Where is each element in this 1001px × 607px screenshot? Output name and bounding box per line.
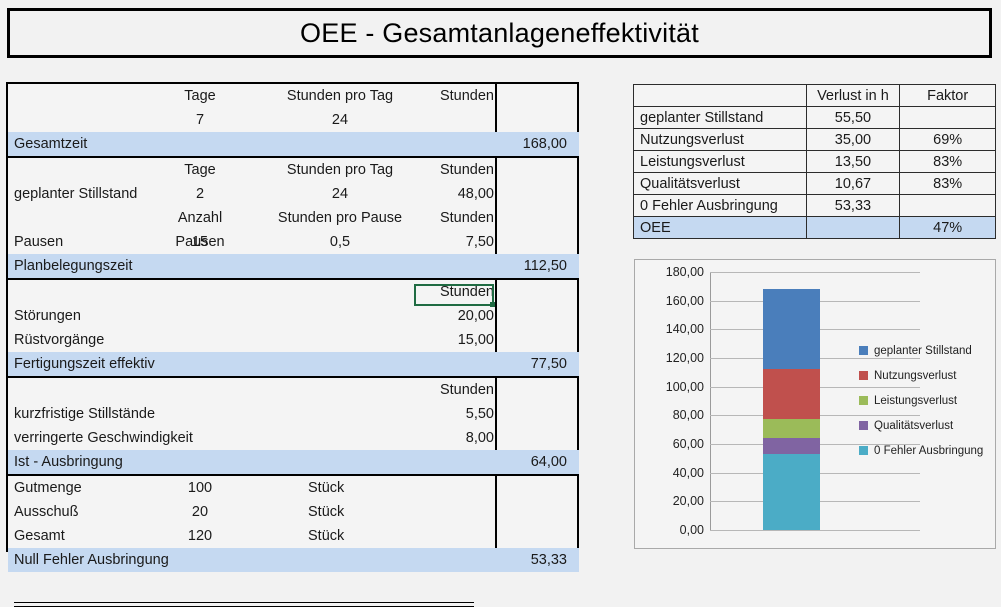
chart-y-tick-label: 40,00 [673,466,704,480]
legend-label: Leistungsverlust [874,395,957,407]
legend-swatch-icon [859,421,868,430]
row-unit: Stück [308,500,398,524]
row-label: verringerte Geschwindigkeit [14,426,193,450]
loss-table-header-row: Verlust in h Faktor [634,85,996,107]
chart-legend-item[interactable]: geplanter Stillstand [859,338,983,363]
table-row: Störungen20,00 [8,304,577,328]
chart-legend-item[interactable]: 0 Fehler Ausbringung [859,438,983,463]
row-label: Gesamt [14,524,65,548]
chart-legend-item[interactable]: Nutzungsverlust [859,363,983,388]
table-row: Leistungsverlust13,5083% [634,151,996,173]
table-row: Pausen150,57,50 [8,230,577,254]
chart-bar-segment[interactable] [763,454,820,530]
chart-gridline: 0,00 [710,530,920,531]
loss-table-head: Verlust in h Faktor [634,85,996,107]
gesamt-total-underline [14,602,474,607]
calc-block-fertigungszeit: StundenStörungen20,00Rüstvorgänge15,00Fe… [8,280,577,378]
result-label: Null Fehler Ausbringung [14,548,169,572]
legend-label: Qualitätsverlust [874,420,953,432]
calculation-blocks: TageStunden pro TagStunden724Gesamtzeit1… [8,84,577,572]
oee-stacked-bar-chart: 180,00160,00140,00120,00100,0080,0060,00… [634,259,996,549]
result-label: Ist - Ausbringung [14,450,123,474]
chart-plot-area: 180,00160,00140,00120,00100,0080,0060,00… [710,272,845,530]
row-col-c: 8,00 [416,426,494,450]
chart-y-tick-label: 20,00 [673,494,704,508]
row-col-a: 100 [158,476,242,500]
table-row: TageStunden pro TagStunden [8,158,577,182]
chart-y-tick-label: 180,00 [666,265,704,279]
table-row: TageStunden pro TagStunden [8,84,577,108]
chart-bar-segment[interactable] [763,369,820,419]
loss-row-factor: 69% [900,129,996,151]
result-row: Gesamtzeit168,00 [8,132,577,156]
loss-header-faktor: Faktor [900,85,996,107]
chart-gridline: 180,00 [710,272,920,273]
legend-swatch-icon [859,446,868,455]
chart-bar-segment[interactable] [763,419,820,438]
chart-legend-item[interactable]: Leistungsverlust [859,388,983,413]
result-label: Gesamtzeit [14,132,87,156]
page-title: OEE - Gesamtanlageneffektivität [300,18,699,49]
table-row: kurzfristige Stillstände5,50 [8,402,577,426]
legend-swatch-icon [859,396,868,405]
loss-row-label: Qualitätsverlust [634,173,807,195]
row-col-a: 15 [158,230,242,254]
loss-table-body: geplanter Stillstand55,50Nutzungsverlust… [634,107,996,239]
legend-label: geplanter Stillstand [874,345,972,357]
table-row: Nutzungsverlust35,0069% [634,129,996,151]
loss-summary-table: Verlust in h Faktor geplanter Stillstand… [633,84,996,239]
result-label: Planbelegungszeit [14,254,133,278]
chart-y-axis [710,272,711,530]
chart-y-tick-label: 80,00 [673,408,704,422]
table-row: geplanter Stillstand22448,00 [8,182,577,206]
row-col-c: 7,50 [416,230,494,254]
chart-stacked-bar[interactable] [763,289,820,530]
table-row: 724 [8,108,577,132]
chart-legend: geplanter StillstandNutzungsverlustLeist… [859,338,983,463]
oee-calculation-table: TageStunden pro TagStunden724Gesamtzeit1… [6,82,579,552]
table-row: geplanter Stillstand55,50 [634,107,996,129]
chart-y-tick-label: 160,00 [666,294,704,308]
loss-row-value: 55,50 [806,107,900,129]
loss-row-factor: 83% [900,151,996,173]
chart-y-tick-label: 120,00 [666,351,704,365]
result-row: Ist - Ausbringung64,00 [8,450,577,474]
table-row: Qualitätsverlust10,6783% [634,173,996,195]
loss-row-value: 35,00 [806,129,900,151]
row-col-c: Stunden [416,84,494,108]
legend-swatch-icon [859,346,868,355]
table-row: Rüstvorgänge15,00 [8,328,577,352]
table-row: Gesamt120Stück [8,524,577,548]
row-col-b: Stunden pro Tag [260,158,420,182]
chart-y-tick-label: 140,00 [666,322,704,336]
row-label: Störungen [14,304,81,328]
result-label: Fertigungszeit effektiv [14,352,155,376]
table-row: 0 Fehler Ausbringung53,33 [634,195,996,217]
result-value: 64,00 [497,450,579,474]
chart-y-tick-label: 100,00 [666,380,704,394]
row-col-a: 120 [158,524,242,548]
chart-bar-segment[interactable] [763,289,820,369]
loss-header-blank [634,85,807,107]
page-title-box: OEE - Gesamtanlageneffektivität [7,8,992,58]
calc-block-ist-ausbringung: Stundenkurzfristige Stillstände5,50verri… [8,378,577,476]
loss-row-factor [900,107,996,129]
row-unit: Stück [308,524,398,548]
row-col-a: Tage [158,158,242,182]
row-label: Gutmenge [14,476,82,500]
row-label: geplanter Stillstand [14,182,137,206]
loss-row-factor: 47% [900,217,996,239]
table-row: Ausschuß20Stück [8,500,577,524]
table-row: verringerte Geschwindigkeit8,00 [8,426,577,450]
loss-header-verlust: Verlust in h [806,85,900,107]
legend-swatch-icon [859,371,868,380]
calc-block-geplanter-stillstand: TageStunden pro TagStundengeplanter Stil… [8,158,577,280]
loss-row-value: 10,67 [806,173,900,195]
loss-row-label: geplanter Stillstand [634,107,807,129]
calc-block-gesamtzeit: TageStunden pro TagStunden724Gesamtzeit1… [8,84,577,158]
row-label: Ausschuß [14,500,78,524]
legend-label: Nutzungsverlust [874,370,956,382]
calc-block-null-fehler-ausbringung: Gutmenge100StückAusschuß20StückGesamt120… [8,476,577,572]
legend-label: 0 Fehler Ausbringung [874,445,983,457]
row-label: Pausen [14,230,63,254]
excel-fill-handle[interactable] [490,302,495,307]
row-col-c: 20,00 [416,304,494,328]
result-value: 77,50 [497,352,579,376]
table-row: OEE47% [634,217,996,239]
table-row: Stunden [8,378,577,402]
row-col-a: Tage [158,84,242,108]
row-col-a: 20 [158,500,242,524]
result-value: 112,50 [497,254,579,278]
result-value: 168,00 [497,132,579,156]
row-col-c: Stunden [416,378,494,402]
row-col-b: 0,5 [260,230,420,254]
chart-y-tick-label: 0,00 [680,523,704,537]
chart-legend-item[interactable]: Qualitätsverlust [859,413,983,438]
table-row: Gutmenge100Stück [8,476,577,500]
loss-row-value [806,217,900,239]
loss-row-label: OEE [634,217,807,239]
row-col-b: 24 [260,182,420,206]
row-col-c: Stunden [416,280,494,304]
loss-row-label: Leistungsverlust [634,151,807,173]
row-label: Rüstvorgänge [14,328,104,352]
result-value: 53,33 [497,548,579,572]
table-row: Stunden [8,280,577,304]
row-col-c: Stunden [416,158,494,182]
table-row: Anzahl PausenStunden pro PauseStunden [8,206,577,230]
row-label: kurzfristige Stillstände [14,402,155,426]
chart-y-tick-label: 60,00 [673,437,704,451]
loss-row-label: 0 Fehler Ausbringung [634,195,807,217]
row-col-c: Stunden [416,206,494,230]
row-unit: Stück [308,476,398,500]
row-col-c: 5,50 [416,402,494,426]
result-row: Null Fehler Ausbringung53,33 [8,548,577,572]
row-col-b: 24 [260,108,420,132]
loss-row-value: 53,33 [806,195,900,217]
row-col-c: 48,00 [416,182,494,206]
row-col-b: Stunden pro Tag [260,84,420,108]
chart-bar-segment[interactable] [763,438,820,453]
loss-row-label: Nutzungsverlust [634,129,807,151]
result-row: Planbelegungszeit112,50 [8,254,577,278]
result-row: Fertigungszeit effektiv77,50 [8,352,577,376]
loss-row-factor: 83% [900,173,996,195]
row-col-a: 7 [158,108,242,132]
row-col-a: 2 [158,182,242,206]
row-col-b: Stunden pro Pause [260,206,420,230]
row-col-c: 15,00 [416,328,494,352]
loss-row-value: 13,50 [806,151,900,173]
loss-row-factor [900,195,996,217]
